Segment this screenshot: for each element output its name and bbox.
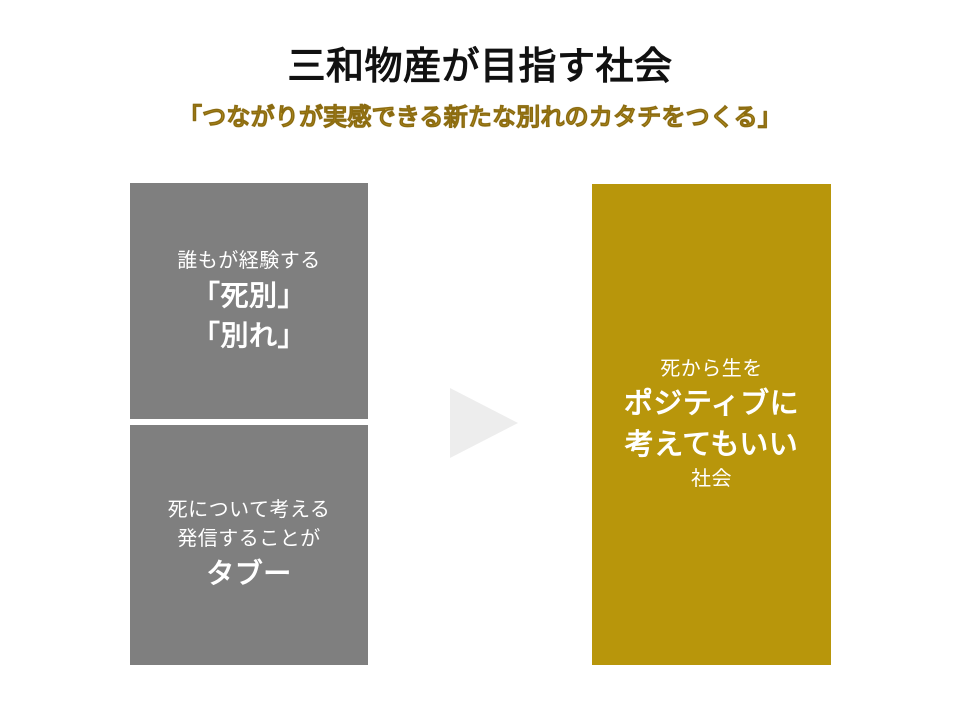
panel-line: 考えてもいい bbox=[625, 425, 799, 466]
slide-canvas: 三和物産が目指す社会 「つながりが実感できる新たな別れのカタチをつくる」 誰もが… bbox=[0, 0, 960, 720]
panel-line: 死から生を bbox=[660, 355, 763, 384]
panel-line: 「別れ」 bbox=[192, 316, 306, 356]
panel-line: ポジティブに bbox=[624, 384, 799, 425]
panel-line: 誰もが経験する bbox=[177, 247, 321, 276]
problem-panel-bereavement: 誰もが経験する 「死別」 「別れ」 bbox=[130, 183, 368, 419]
panel-line: 発信することが bbox=[177, 525, 321, 554]
panel-line: 死について考える bbox=[168, 496, 331, 525]
panel-line: 社会 bbox=[691, 465, 732, 494]
page-title: 三和物産が目指す社会 bbox=[0, 46, 960, 90]
panel-line: 「死別」 bbox=[192, 276, 306, 316]
right-arrow-icon bbox=[450, 388, 518, 459]
problem-panel-taboo: 死について考える 発信することが タブー bbox=[130, 425, 368, 665]
arrow-triangle-shape bbox=[450, 388, 518, 458]
panel-line: タブー bbox=[206, 554, 292, 594]
page-subtitle: 「つながりが実感できる新たな別れのカタチをつくる」 bbox=[0, 104, 960, 133]
vision-panel-positive-society: 死から生を ポジティブに 考えてもいい 社会 bbox=[592, 184, 831, 665]
